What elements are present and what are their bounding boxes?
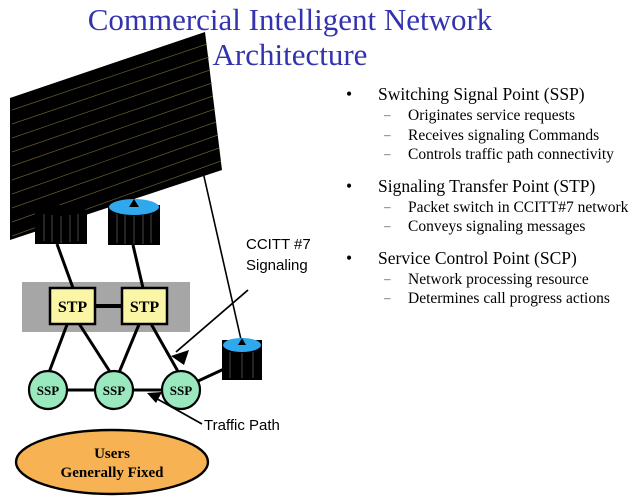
scp-database-cylinder-3 bbox=[222, 338, 262, 380]
sub-bullet-label: Receives signaling Commands bbox=[408, 127, 599, 144]
bullet-item-stp: • Signaling Transfer Point (STP) bbox=[336, 176, 644, 197]
stp-node-2[interactable]: STP bbox=[122, 288, 167, 324]
network-diagram: STP STP SSP SSP SSP Users bbox=[0, 0, 340, 499]
sub-bullet-label: Originates service requests bbox=[408, 107, 575, 124]
bullet-group-scp: • Service Control Point (SCP) – Network … bbox=[336, 248, 644, 308]
bullet-dot-icon: • bbox=[346, 84, 352, 105]
bullet-label: Signaling Transfer Point (STP) bbox=[378, 176, 595, 196]
ccitt7-label-line2: Signaling bbox=[246, 257, 308, 274]
scp2-stp2-link bbox=[133, 245, 143, 288]
sub-bullet-item: – Controls traffic path connectivity bbox=[336, 146, 644, 164]
bullet-item-scp: • Service Control Point (SCP) bbox=[336, 248, 644, 269]
sub-bullet-item: – Receives signaling Commands bbox=[336, 127, 644, 145]
users-label-line1: Users bbox=[94, 446, 130, 462]
sub-bullet-item: – Conveys signaling messages bbox=[336, 218, 644, 236]
scp1-stp1-link bbox=[57, 244, 73, 288]
dash-icon: – bbox=[384, 217, 391, 235]
slide-canvas: Commercial Intelligent Network Architect… bbox=[0, 0, 644, 499]
bullet-item-ssp: • Switching Signal Point (SSP) bbox=[336, 84, 644, 105]
ssp3-scp3-link bbox=[196, 369, 224, 382]
ssp-node-3-label: SSP bbox=[170, 383, 192, 398]
users-label-line2: Generally Fixed bbox=[61, 465, 165, 481]
dash-icon: – bbox=[384, 145, 391, 163]
dash-icon: – bbox=[384, 198, 391, 216]
sub-bullet-item: – Packet switch in CCITT#7 network bbox=[336, 199, 644, 217]
sub-bullet-item: – Network processing resource bbox=[336, 271, 644, 289]
sub-bullet-label: Packet switch in CCITT#7 network bbox=[408, 199, 628, 216]
bullet-group-ssp: • Switching Signal Point (SSP) – Origina… bbox=[336, 84, 644, 164]
cloud-to-scp-link bbox=[203, 172, 242, 344]
users-ellipse: Users Generally Fixed bbox=[16, 430, 208, 494]
sub-bullet-label: Conveys signaling messages bbox=[408, 218, 585, 235]
ssp-node-1[interactable]: SSP bbox=[29, 371, 67, 409]
stp-node-1[interactable]: STP bbox=[50, 288, 95, 324]
bullet-label: Switching Signal Point (SSP) bbox=[378, 84, 585, 104]
scp-database-cylinder-1 bbox=[35, 205, 87, 244]
scp-database-cylinder-2 bbox=[108, 199, 160, 245]
dash-icon: – bbox=[384, 289, 391, 307]
sub-bullet-item: – Determines call progress actions bbox=[336, 290, 644, 308]
ssp-node-2[interactable]: SSP bbox=[95, 371, 133, 409]
bullet-label: Service Control Point (SCP) bbox=[378, 248, 577, 268]
dash-icon: – bbox=[384, 270, 391, 288]
sub-bullet-label: Network processing resource bbox=[408, 271, 589, 288]
ssp-node-3[interactable]: SSP bbox=[162, 371, 200, 409]
traffic-path-label: Traffic Path bbox=[204, 417, 280, 434]
dash-icon: – bbox=[384, 126, 391, 144]
sub-bullet-item: – Originates service requests bbox=[336, 107, 644, 125]
sub-bullet-label: Controls traffic path connectivity bbox=[408, 146, 614, 163]
stp-node-1-label: STP bbox=[58, 299, 88, 316]
sub-bullet-label: Determines call progress actions bbox=[408, 290, 610, 307]
bullet-dot-icon: • bbox=[346, 248, 352, 269]
ssp-node-2-label: SSP bbox=[103, 383, 125, 398]
bullet-group-stp: • Signaling Transfer Point (STP) – Packe… bbox=[336, 176, 644, 236]
ssp-node-1-label: SSP bbox=[37, 383, 59, 398]
bullet-dot-icon: • bbox=[346, 176, 352, 197]
bullet-list: • Switching Signal Point (SSP) – Origina… bbox=[336, 84, 644, 320]
ccitt7-label-line1: CCITT #7 bbox=[246, 236, 311, 253]
stp-node-2-label: STP bbox=[130, 299, 160, 316]
dash-icon: – bbox=[384, 106, 391, 124]
